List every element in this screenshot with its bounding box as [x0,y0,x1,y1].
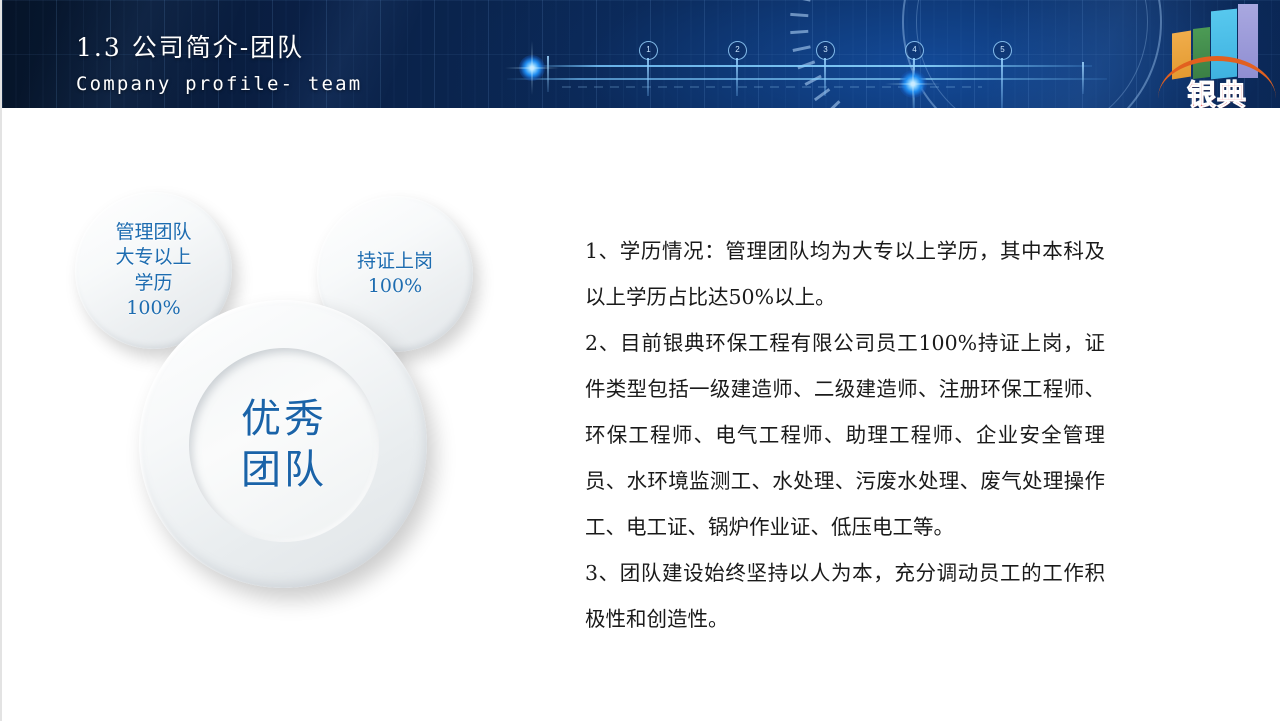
center-ring-inner: 优秀 团队 [189,348,379,542]
company-logo: 银典 [1152,0,1280,108]
marker-stem [736,58,738,96]
header-rail-line [532,65,1092,67]
marker-stem [647,58,649,96]
body-text-block: 1、学历情况：管理团队均为大专以上学历，其中本科及以上学历占比达50%以上。 2… [585,228,1105,642]
radial-dial-graphic [902,0,1162,108]
header-vertical-tick [547,56,549,92]
slide-canvas: 1 2 3 4 5 1.3 公司简介-团队 Company profile- t… [0,0,1280,721]
header-vertical-tick [1082,62,1084,94]
stat-bubble-label: 管理团队 大专以上 学历 100% [115,220,191,320]
header-glow-node [899,70,927,98]
marker-stem [1001,58,1003,108]
body-paragraph-3: 3、团队建设始终坚持以人为本，充分调动员工的工作积极性和创造性。 [585,550,1105,642]
body-paragraph-2: 2、目前银典环保工程有限公司员工100%持证上岗，证件类型包括一级建造师、二级建… [585,320,1105,550]
center-ring-label: 优秀 团队 [241,394,327,496]
slide-header: 1 2 3 4 5 1.3 公司简介-团队 Company profile- t… [2,0,1280,108]
logo-wordmark: 银典 [1152,72,1280,108]
slide-body: 管理团队 大专以上 学历 100% 持证上岗 100% 优秀 团队 1、学历情况… [2,108,1280,721]
page-title-en: Company profile- team [76,73,362,95]
stat-bubble-label: 持证上岗 100% [357,249,433,299]
header-rail-line [507,78,1107,80]
header-glow-node [519,55,545,81]
center-ring-team[interactable]: 优秀 团队 [139,300,427,588]
body-paragraph-1: 1、学历情况：管理团队均为大专以上学历，其中本科及以上学历占比达50%以上。 [585,228,1105,320]
marker-stem [824,58,826,96]
dial-arc-inner [916,0,1148,108]
page-title-zh: 1.3 公司简介-团队 [76,28,304,64]
